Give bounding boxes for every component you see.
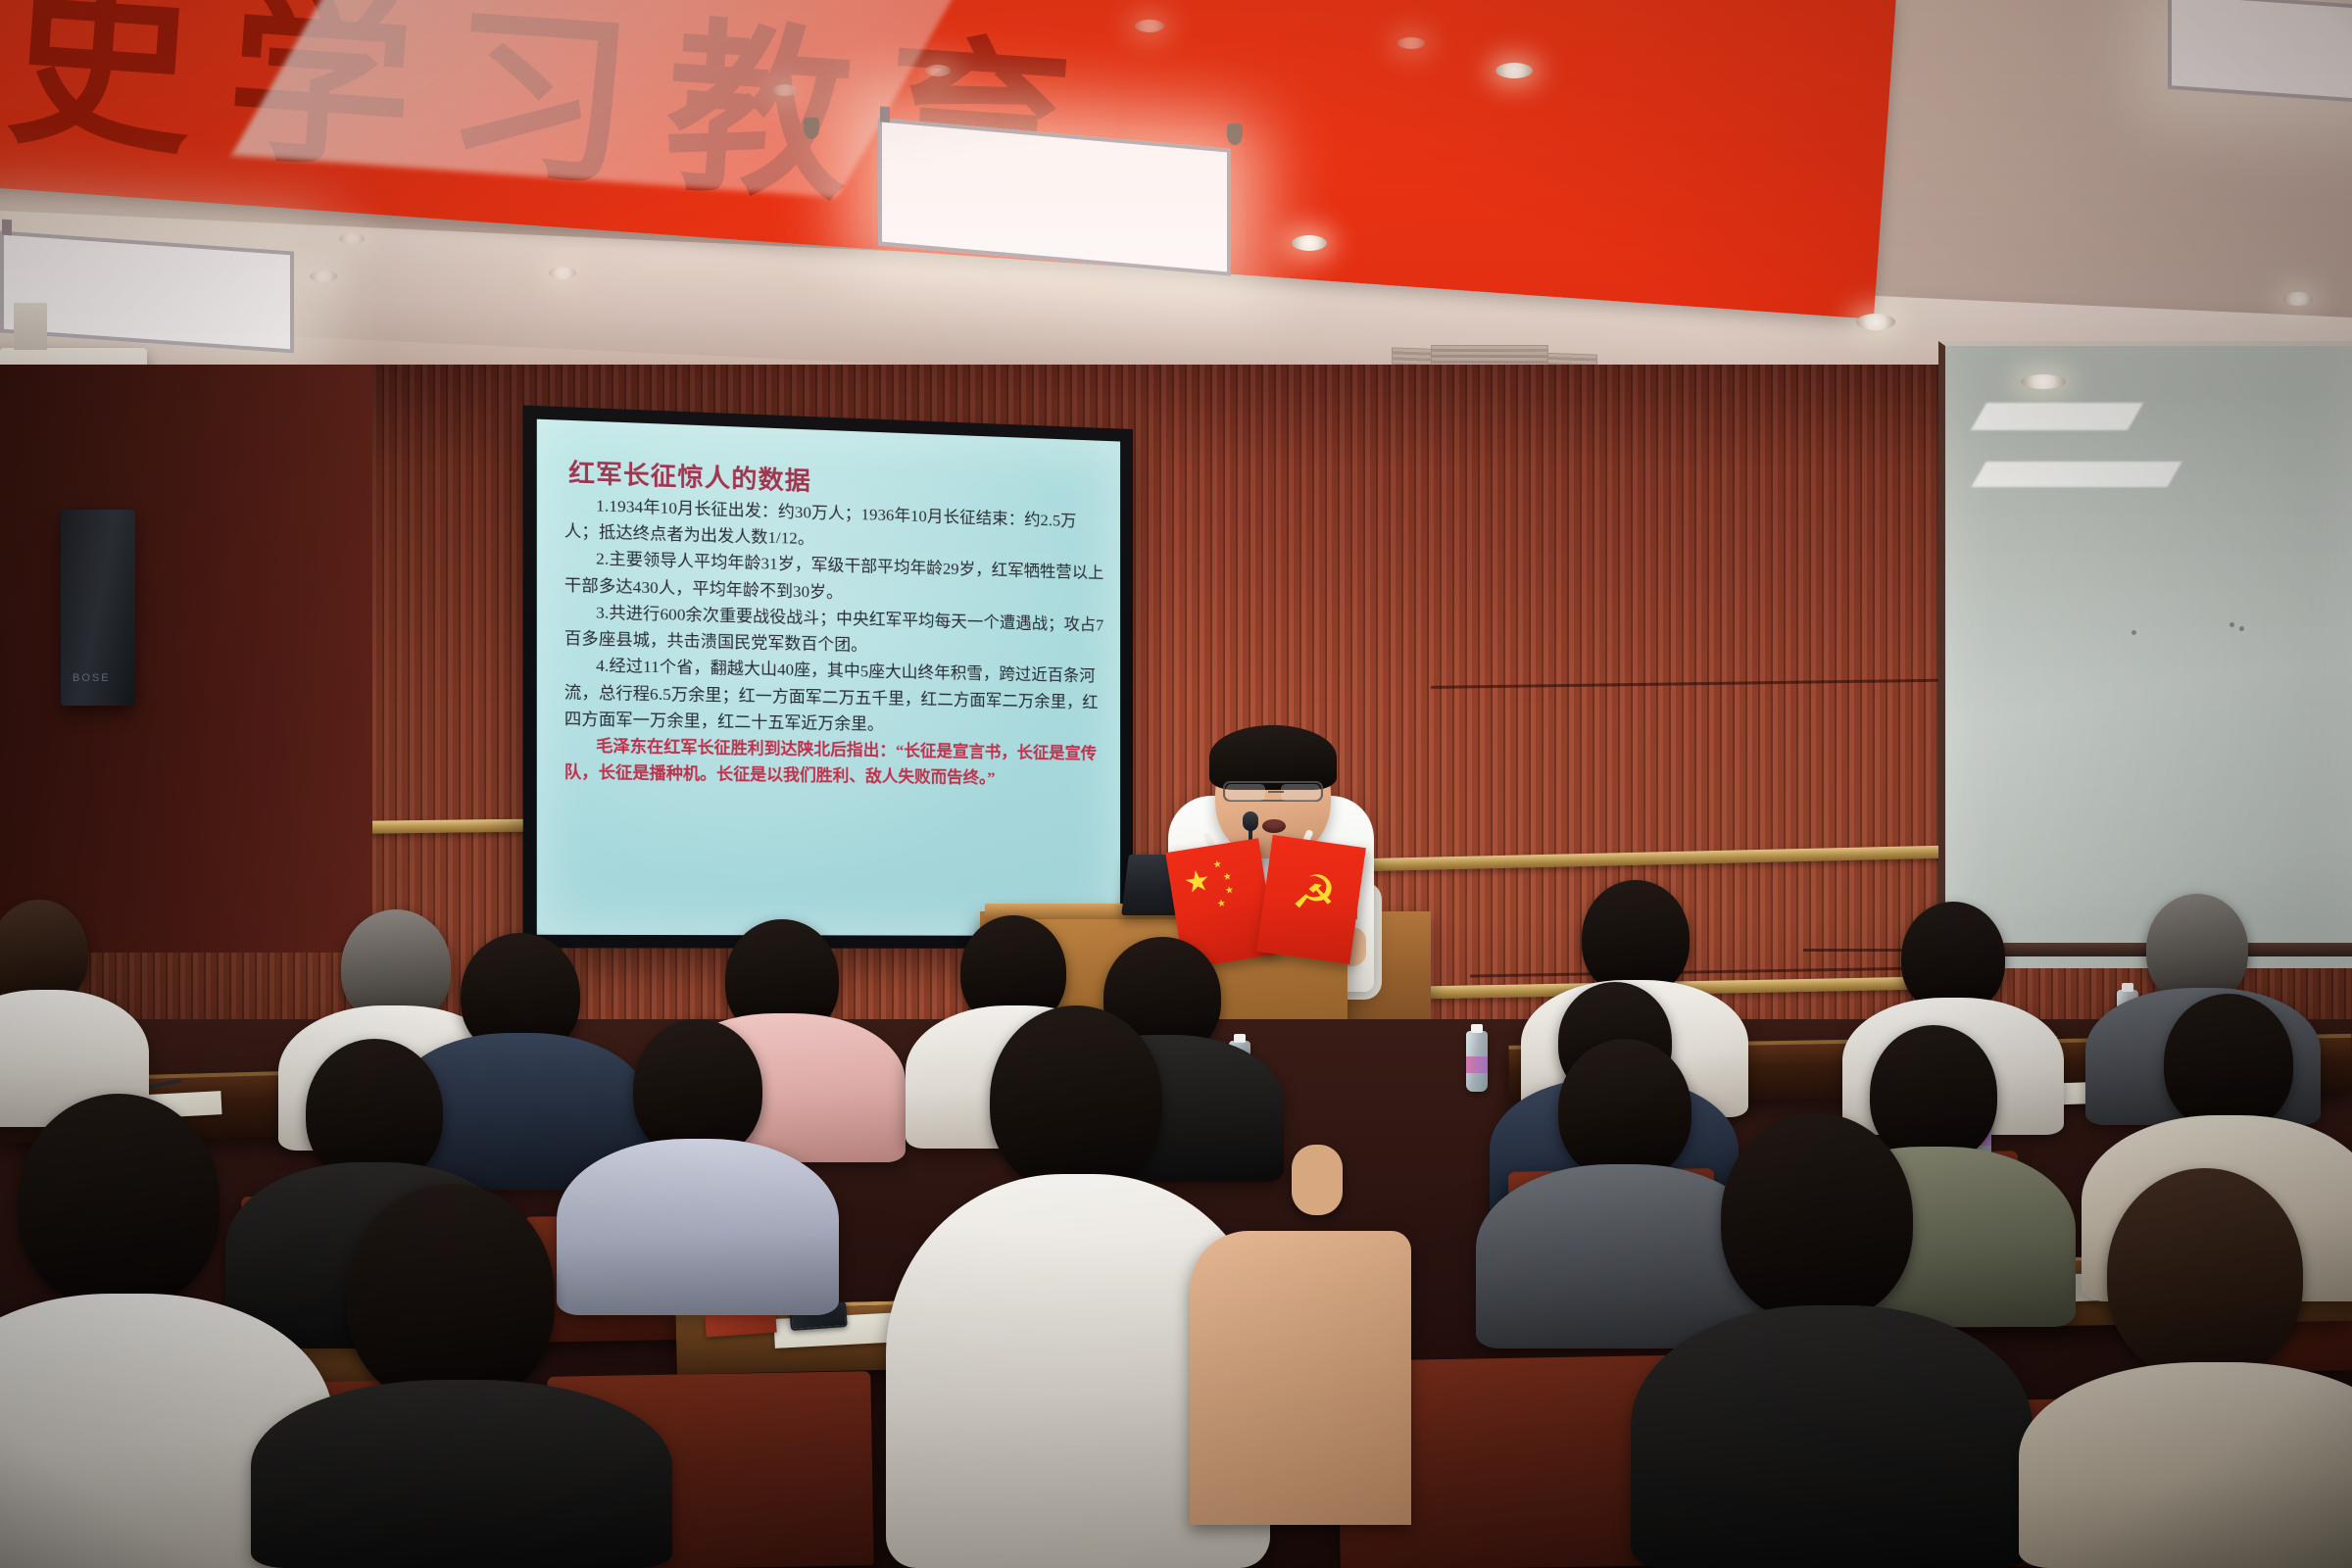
person-head (633, 1019, 762, 1158)
hammer-sickle-icon: ☭ (1290, 866, 1340, 921)
person-head (1558, 1039, 1691, 1180)
glass-reflection (1971, 403, 2143, 430)
slide-body: 1.1934年10月长征出发：约30万人；1936年10月长征结束：约2.5万人… (564, 492, 1106, 794)
person-shoulders (251, 1380, 672, 1568)
person-arm (1292, 1145, 1343, 1215)
person-shoulders (1631, 1305, 2033, 1568)
wall-speaker-bose: BOSE (61, 510, 135, 706)
ceiling-downlight (2283, 292, 2313, 306)
person-head (1582, 880, 1690, 996)
projection-screen-frame: 红军长征惊人的数据 1.1934年10月长征出发：约30万人；1936年10月长… (523, 406, 1133, 949)
person-shoulders (2019, 1362, 2352, 1568)
person-head (1901, 902, 2005, 1013)
sprinkler-head (804, 118, 819, 139)
person-arm-extended (1190, 1231, 1411, 1525)
person-head (347, 1184, 555, 1405)
left-wall-shadow (0, 365, 372, 953)
glass-whiteboard-panel (1938, 341, 2352, 968)
ceiling-downlight (1397, 37, 1425, 49)
flag-star-small: ★ (1224, 886, 1234, 897)
slide-quote: 毛泽东在红军长征胜利到达陕北后指出：“长征是宣言书，长征是宣传队，长征是播种机。… (564, 733, 1106, 794)
communist-party-flag: ☭ (1256, 835, 1366, 964)
person-head (1870, 1025, 1997, 1162)
board-mark (2229, 622, 2234, 627)
speaker-mouth (1262, 819, 1286, 833)
lecture-hall-scene: 党史学习教育 BOSE (0, 0, 2352, 1568)
microphone-icon (1243, 811, 1258, 831)
person-head (18, 1094, 220, 1307)
projection-screen: 红军长征惊人的数据 1.1934年10月长征出发：约30万人；1936年10月长… (537, 419, 1120, 936)
ceiling-downlight (2021, 374, 2066, 389)
person-shoulders (557, 1139, 839, 1315)
water-bottle[interactable] (1466, 1031, 1488, 1092)
sprinkler-head (1227, 123, 1243, 145)
person-head (990, 1005, 1162, 1192)
board-mark (2131, 630, 2136, 635)
person-head (1721, 1113, 1913, 1321)
ceiling-downlight (772, 84, 798, 96)
ceiling-downlight (1292, 235, 1327, 251)
flag-star-small: ★ (1216, 899, 1226, 909)
speaker-brand-label: BOSE (73, 672, 111, 684)
glasses-lens-left (1226, 784, 1265, 801)
ceiling-downlight (1135, 20, 1164, 32)
flag-star-large: ★ (1182, 866, 1212, 900)
ceiling-downlight (549, 267, 576, 279)
person-head (2164, 994, 2293, 1131)
board-mark (2239, 626, 2244, 631)
glasses-lens-right (1281, 784, 1320, 801)
person-head (2107, 1168, 2303, 1378)
slide-paragraph-4: 4.经过11个省，翻越大山40座，其中5座大山终年积雪，跨过近百条河流，总行程6… (564, 653, 1106, 742)
ceiling-downlight (1856, 314, 1895, 330)
flag-star-small: ★ (1212, 859, 1222, 870)
ceiling-panel-light (2168, 0, 2352, 107)
ceiling-downlight (925, 65, 951, 76)
flag-star-small: ★ (1222, 872, 1232, 883)
glasses-icon (1223, 781, 1323, 802)
ceiling-downlight (339, 233, 365, 244)
ceiling-downlight (1495, 63, 1533, 78)
glass-reflection (1971, 462, 2181, 487)
ceiling-downlight (310, 270, 337, 282)
